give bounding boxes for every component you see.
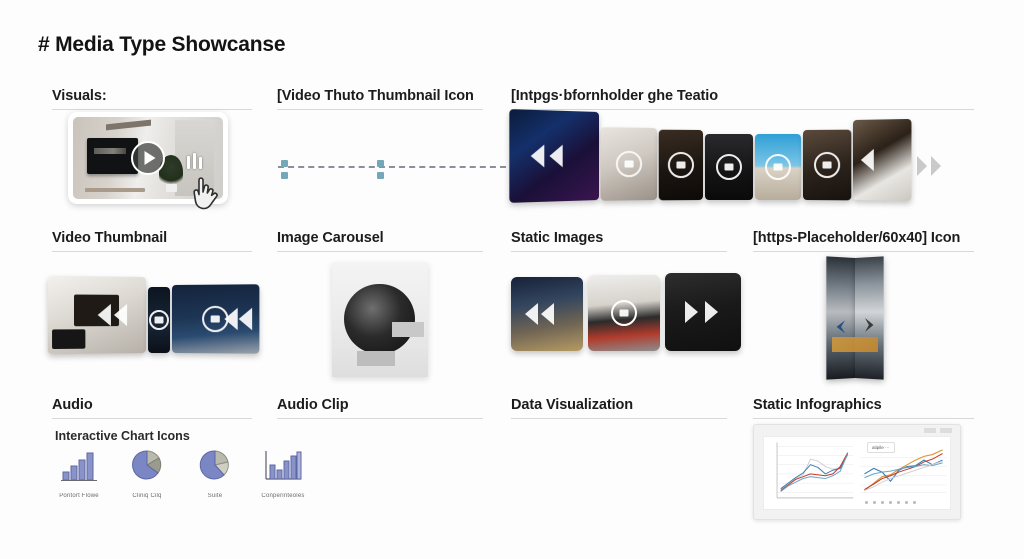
- video-thumbnail-carousel[interactable]: [50, 277, 258, 353]
- section-label-audio: Audio: [52, 397, 252, 413]
- chart-icon-item[interactable]: Conperinteoles: [259, 448, 307, 499]
- infographic-toolbar: [924, 428, 952, 433]
- section-https-placeholder: [https-Placeholder/60x40] Icon: [753, 230, 974, 252]
- sub-label-interactive-chart-icons: Interactive Chart Icons: [55, 429, 190, 443]
- infographic-tag-text: atipile: [872, 445, 884, 450]
- media-ring-icon: [611, 300, 637, 326]
- section-image-carousel: Image Carousel: [277, 230, 483, 252]
- decor-stand: [85, 188, 145, 191]
- carousel-next-area[interactable]: [911, 134, 951, 200]
- section-rule: [511, 109, 974, 110]
- section-rule: [511, 418, 727, 419]
- carousel-static-image[interactable]: [332, 263, 428, 377]
- decor-tv: [87, 138, 138, 174]
- image-subject-base: [357, 351, 395, 366]
- carousel-pane[interactable]: [48, 276, 146, 354]
- carousel-pane[interactable]: [659, 130, 703, 201]
- section-label-data-visualization: Data Visualization: [511, 397, 727, 413]
- section-label-visuals: Visuals:: [52, 88, 252, 104]
- prism-accent: [832, 337, 878, 351]
- chart-icon-caption: Conperinteoles: [259, 493, 307, 499]
- chevron-right-icon: [917, 156, 927, 176]
- static-images-carousel[interactable]: [511, 273, 741, 351]
- carousel-pane[interactable]: [509, 109, 599, 203]
- chart-icon-caption: Cliniq Cilq: [123, 493, 171, 499]
- chart-icon-item[interactable]: Cliniq Cilq: [123, 448, 171, 499]
- section-static-images: Static Images: [511, 230, 727, 252]
- bar-chart-icon: [55, 448, 103, 482]
- section-image-placeholder: [Intpgs·bfornholder ghe Teatio: [511, 88, 974, 110]
- section-label-video-thumbnail: Video Thumbnail: [52, 230, 252, 246]
- carousel-pane[interactable]: [601, 127, 657, 201]
- page-title: # Media Type Showcanse: [38, 33, 285, 57]
- pie-chart-icon: [191, 448, 239, 482]
- dashed-connector-line: [278, 166, 506, 170]
- pie-chart-icon: [123, 448, 171, 482]
- media-ring-icon: [616, 151, 642, 177]
- infographic-tag: atipile ···: [867, 442, 895, 453]
- section-static-infographics: Static Infographics: [753, 397, 974, 419]
- section-rule: [753, 251, 974, 252]
- carousel-pane[interactable]: [148, 287, 170, 353]
- carousel-pane[interactable]: [511, 277, 583, 351]
- image-subject: [344, 284, 415, 355]
- video-thumbnail-card[interactable]: [68, 112, 228, 204]
- carousel-pane[interactable]: [665, 273, 741, 351]
- section-rule: [52, 418, 252, 419]
- chart-icon-item[interactable]: Suite: [191, 448, 239, 499]
- play-icon[interactable]: [131, 141, 165, 175]
- media-showcase-page: # Media Type Showcanse Visuals: [Video T…: [0, 0, 1024, 559]
- chevron-right-icon: [931, 156, 941, 176]
- infographic-pagination-dots[interactable]: [865, 501, 916, 504]
- audio-bars-icon: [187, 153, 205, 169]
- section-label-static-infographics: Static Infographics: [753, 397, 974, 413]
- media-ring-icon: [765, 154, 791, 180]
- section-video-thumb-icon: [Video Thuto Thumbnail Icon: [277, 88, 483, 110]
- section-label-image-carousel: Image Carousel: [277, 230, 483, 246]
- image-subject-detail: [392, 322, 425, 337]
- media-ring-icon: [716, 154, 742, 180]
- decor-shelf: [106, 120, 151, 130]
- carousel-pane[interactable]: [705, 134, 753, 200]
- section-rule: [277, 109, 483, 110]
- chart-icon-caption: Pontort Flowe: [55, 493, 103, 499]
- section-label-https-placeholder: [https-Placeholder/60x40] Icon: [753, 230, 974, 246]
- hand-cursor-icon: [192, 176, 222, 212]
- chart-icon-row: Pontort Flowe Cliniq Cilq Suite: [55, 448, 307, 499]
- section-rule: [511, 251, 727, 252]
- chart-icon-item[interactable]: Pontort Flowe: [55, 448, 103, 499]
- section-rule: [277, 418, 483, 419]
- media-ring-icon: [814, 152, 840, 178]
- section-label-static-images: Static Images: [511, 230, 727, 246]
- infographic-chart-left: [764, 437, 857, 509]
- chart-icon-caption: Suite: [191, 493, 239, 499]
- carousel-pane[interactable]: [853, 119, 911, 201]
- media-ring-icon: [202, 306, 228, 332]
- prism-face-left: [826, 256, 855, 379]
- section-audio-clip: Audio Clip: [277, 397, 483, 419]
- line-chart-left: [764, 437, 857, 509]
- section-label-video-thumb-icon: [Video Thuto Thumbnail Icon: [277, 88, 483, 104]
- section-visuals: Visuals:: [52, 88, 252, 110]
- carousel-pane[interactable]: [803, 130, 851, 201]
- section-data-visualization: Data Visualization: [511, 397, 727, 419]
- section-rule: [52, 251, 252, 252]
- prism-face-right: [855, 256, 884, 379]
- section-label-audio-clip: Audio Clip: [277, 397, 483, 413]
- bar-chart-axis-icon: [259, 448, 307, 482]
- connector-marker-mid[interactable]: [377, 160, 384, 179]
- section-label-image-placeholder: [Intpgs·bfornholder ghe Teatio: [511, 88, 974, 104]
- https-placeholder-image[interactable]: [826, 258, 884, 378]
- section-audio: Audio: [52, 397, 252, 419]
- image-carousel-top[interactable]: [511, 112, 951, 200]
- static-infographic-card[interactable]: atipile ···: [753, 424, 961, 520]
- infographic-body: atipile ···: [763, 436, 951, 510]
- infographic-tag-accent: ···: [885, 445, 890, 450]
- infographic-chart-right: atipile ···: [857, 437, 950, 509]
- carousel-pane[interactable]: [588, 275, 660, 351]
- section-rule: [277, 251, 483, 252]
- carousel-pane[interactable]: [755, 134, 801, 200]
- media-ring-icon: [668, 152, 694, 178]
- section-video-thumbnail: Video Thumbnail: [52, 230, 252, 252]
- media-ring-icon: [149, 310, 169, 330]
- connector-marker-start[interactable]: [281, 160, 288, 179]
- section-rule: [52, 109, 252, 110]
- carousel-pane[interactable]: [172, 284, 259, 353]
- section-rule: [753, 418, 974, 419]
- decor-pot: [166, 184, 177, 191]
